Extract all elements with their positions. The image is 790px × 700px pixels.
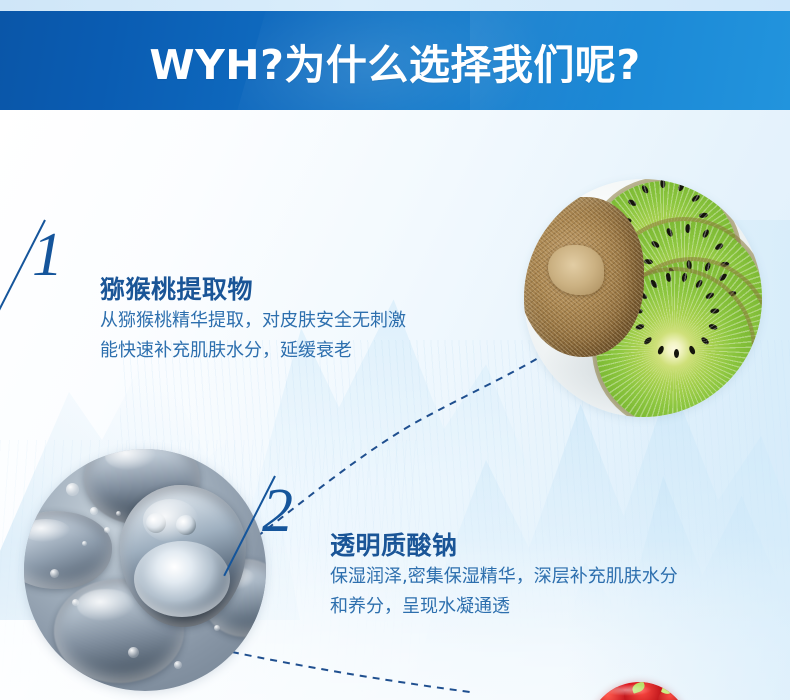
feature-title: 猕猴桃提取物 xyxy=(100,270,253,306)
kiwi-whole-fruit xyxy=(524,197,644,357)
feature-body-line: 和养分，呈现水凝通透 xyxy=(330,592,678,622)
red-fruit-highlight xyxy=(602,684,652,696)
feature-item-2: 2 透明质酸钠 保湿润泽,密集保湿精华，深层补充肌肤水分 和养分，呈现水凝通透 xyxy=(288,498,758,658)
banner-title: WYH?为什么选择我们呢? xyxy=(0,11,790,110)
droplet-bubble xyxy=(176,515,196,535)
droplet-bubble xyxy=(146,513,166,533)
feature-body-line: 从猕猴桃精华提取，对皮肤安全无刺激 xyxy=(100,306,406,336)
droplet-lens xyxy=(134,541,230,617)
water-droplets-photo-circle xyxy=(24,449,266,691)
feature-body: 保湿润泽,密集保湿精华，深层补充肌肤水分 和养分，呈现水凝通透 xyxy=(330,562,678,622)
feature-item-1: 1 猕猴桃提取物 从猕猴桃精华提取，对皮肤安全无刺激 能快速补充肌肤水分，延缓衰… xyxy=(28,218,448,378)
kiwi-photo-circle xyxy=(524,179,762,417)
feature-body-line: 能快速补充肌肤水分，延缓衰老 xyxy=(100,336,406,366)
header-banner: WYH?为什么选择我们呢? xyxy=(0,11,790,110)
water-droplet xyxy=(24,511,112,589)
product-detail-page: WYH?为什么选择我们呢? xyxy=(0,0,790,700)
feature-body-line: 保湿润泽,密集保湿精华，深层补充肌肤水分 xyxy=(330,562,678,592)
feature-body: 从猕猴桃精华提取，对皮肤安全无刺激 能快速补充肌肤水分，延缓衰老 xyxy=(100,306,406,366)
feature-title: 透明质酸钠 xyxy=(330,526,458,562)
top-strip xyxy=(0,0,790,11)
